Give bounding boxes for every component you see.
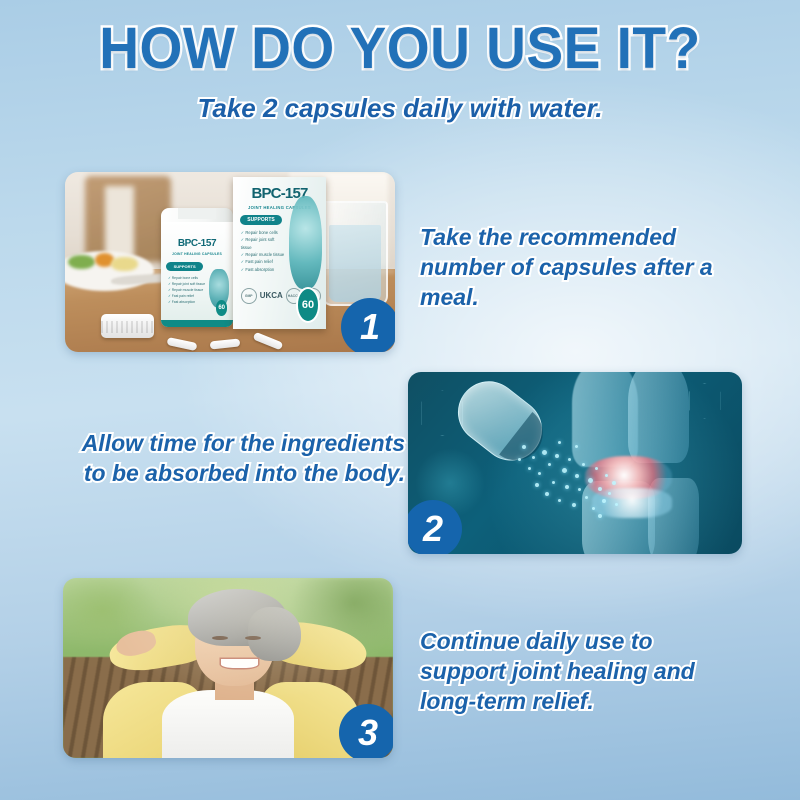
chair-gap <box>105 186 135 258</box>
particle <box>578 488 581 491</box>
bottle-brand-text: BPC-157 <box>161 238 234 249</box>
step-3-image: 3 <box>63 578 393 758</box>
particle <box>558 441 561 444</box>
step-2-number-badge: 2 <box>408 500 462 554</box>
particle <box>575 445 578 448</box>
particle <box>562 468 567 473</box>
box-benefit-item: Fast absorption <box>241 266 285 273</box>
box-count-badge: 60 <box>296 287 320 323</box>
bottle-benefit-list: Repair bone cells Repair joint soft tiss… <box>168 275 206 305</box>
particle <box>535 483 539 487</box>
step-2-image: 2 <box>408 372 742 554</box>
particle <box>605 474 608 477</box>
step-1-number-badge: 1 <box>341 298 395 352</box>
particle <box>572 503 576 507</box>
ukca-mark-icon: UKCA <box>260 292 283 300</box>
particle <box>568 458 571 461</box>
bottle-neck <box>178 208 216 219</box>
particle <box>595 467 598 470</box>
page-title: HOW DO YOU USE IT? <box>20 18 780 80</box>
step-1-text: Take the recommended number of capsules … <box>420 222 740 312</box>
particle <box>588 478 593 483</box>
box-supports-banner: SUPPORTS <box>240 215 282 225</box>
step-3-text: Continue daily use to support joint heal… <box>420 626 740 716</box>
step-3-number-badge: 3 <box>339 704 393 758</box>
infographic-poster: HOW DO YOU USE IT? Take 2 capsules daily… <box>0 0 800 800</box>
water-glass <box>322 201 389 306</box>
particle <box>518 458 521 461</box>
particle <box>602 499 606 503</box>
box-knee-graphic <box>289 196 322 290</box>
particle <box>558 499 561 502</box>
box-benefit-list: Repair bone cells Repair joint soft tiss… <box>241 229 285 273</box>
particle <box>542 450 547 455</box>
gmp-badge-icon: GMP <box>241 288 257 304</box>
particle <box>608 492 611 495</box>
potato-piece <box>111 257 137 271</box>
particle <box>598 514 602 518</box>
particle <box>575 474 579 478</box>
bottle-count-badge: 60 <box>216 300 228 316</box>
particle <box>585 496 588 499</box>
particle <box>598 487 602 491</box>
particle <box>612 481 616 485</box>
particle <box>552 481 555 484</box>
particle <box>592 507 595 510</box>
step-1-image: BPC-157 JOINT HEALING CAPSULES SUPPORTS … <box>65 172 395 352</box>
particle <box>532 456 535 459</box>
particle <box>615 503 618 506</box>
bottle-supports-banner: SUPPORTS <box>166 262 202 271</box>
box-benefit-item: Repair muscle tissue <box>241 251 285 258</box>
particle <box>582 463 585 466</box>
bottle-tagline-text: JOINT HEALING CAPSULES <box>161 252 234 256</box>
particle <box>548 463 551 466</box>
particle <box>545 492 549 496</box>
box-benefit-item: Fast pain relief <box>241 258 285 265</box>
particle <box>528 467 531 470</box>
supplement-box: BPC-157 JOINT HEALING CAPSULES SUPPORTS … <box>233 177 325 328</box>
box-benefit-item: Repair joint soft tissue <box>241 236 285 251</box>
bottle-label: BPC-157 JOINT HEALING CAPSULES SUPPORTS … <box>161 222 234 327</box>
particle <box>538 472 541 475</box>
particle <box>522 445 526 449</box>
particle <box>555 454 559 458</box>
particle <box>565 485 569 489</box>
bottle-cap <box>101 314 154 337</box>
salad-greens <box>68 255 94 269</box>
bottle-benefit-item: Fast absorption <box>168 299 206 305</box>
box-benefit-item: Repair bone cells <box>241 229 285 236</box>
supplement-bottle: BPC-157 JOINT HEALING CAPSULES SUPPORTS … <box>161 208 234 327</box>
subtitle: Take 2 capsules daily with water. <box>190 92 610 124</box>
step-2-text: Allow time for the ingredients to be abs… <box>60 428 405 488</box>
